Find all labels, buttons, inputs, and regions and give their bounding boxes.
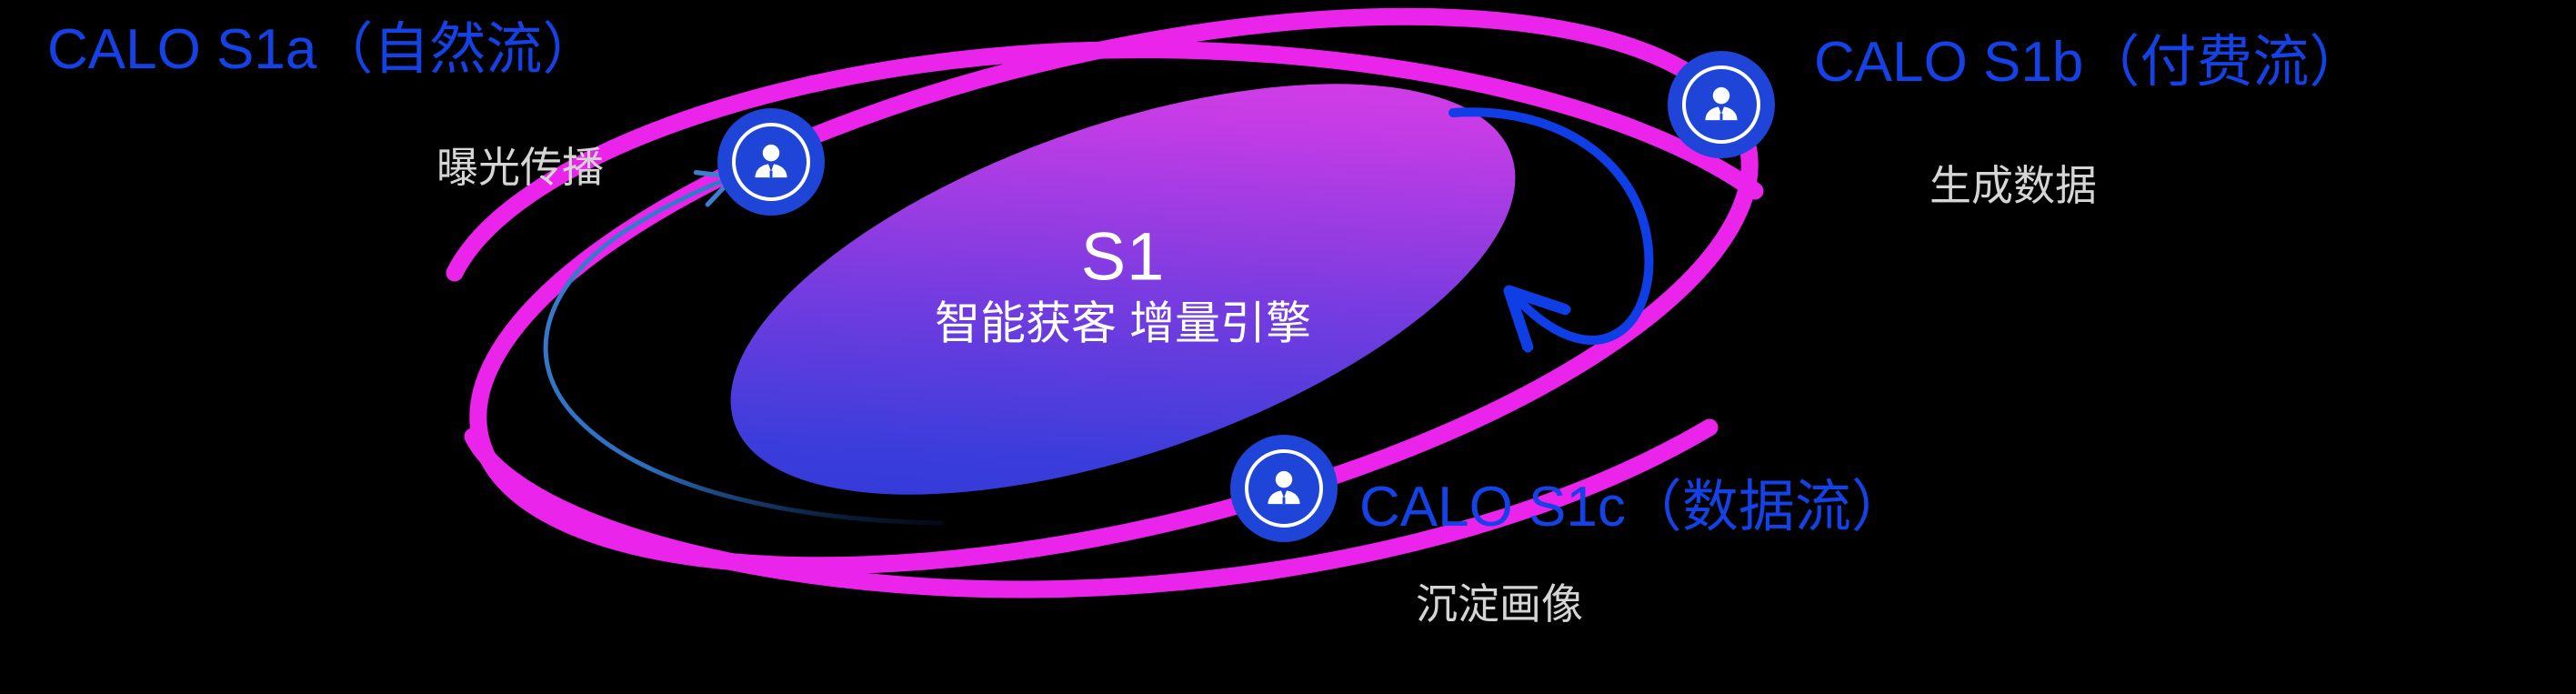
user-icon xyxy=(1697,80,1746,129)
node-icon-s1a[interactable] xyxy=(717,108,825,216)
node-icon-s1c[interactable] xyxy=(1230,435,1338,542)
node-sublabel-s1c: 沉淀画像 xyxy=(1416,582,1583,626)
node-label-s1a: CALO S1a（自然流） xyxy=(47,20,598,79)
orbit-scene xyxy=(0,0,2576,694)
user-icon xyxy=(1259,464,1308,513)
node-icon-s1b[interactable] xyxy=(1668,51,1775,158)
node-label-s1b: CALO S1b（付费流） xyxy=(1814,33,2365,92)
user-icon xyxy=(747,137,796,186)
node-sublabel-s1a: 曝光传播 xyxy=(436,146,604,189)
node-label-s1c: CALO S1c（数据流） xyxy=(1359,478,1908,537)
node-sublabel-s1b: 生成数据 xyxy=(1929,164,2097,207)
diagram-canvas: S1 智能获客 增量引擎 CALO S1a（自然流） xyxy=(0,0,2576,694)
